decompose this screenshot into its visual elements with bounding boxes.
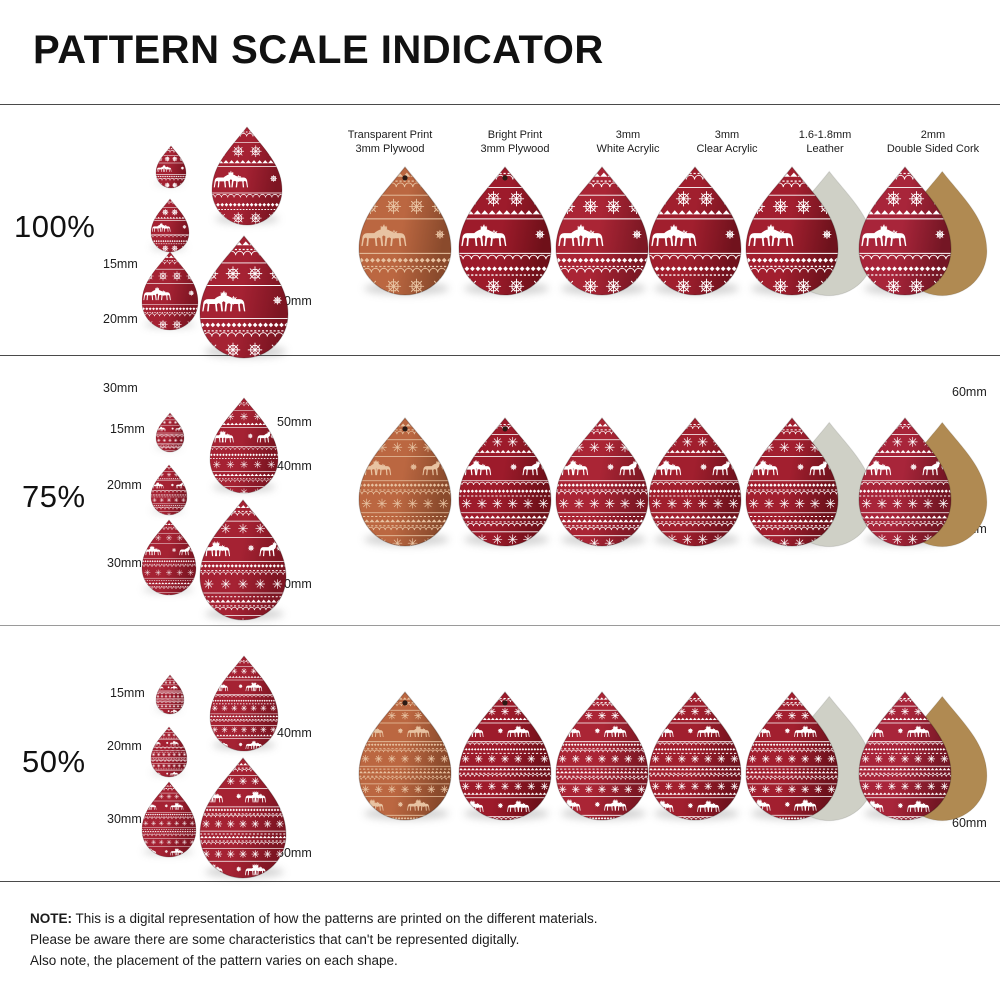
size-label-20mm: 20mm bbox=[103, 312, 138, 326]
footer-note-line-3: Also note, the placement of the pattern … bbox=[30, 950, 598, 971]
material-drop-bright-print-plywood bbox=[455, 688, 555, 824]
material-drop-transparent-print-plywood bbox=[355, 688, 455, 824]
material-drop-bright-print-plywood bbox=[455, 414, 555, 550]
material-drop-white-acrylic bbox=[552, 414, 652, 550]
footer-note-line-2: Please be aware there are some character… bbox=[30, 929, 598, 950]
page-title: PATTERN SCALE INDICATOR bbox=[33, 28, 604, 73]
sample-drop-40mm bbox=[208, 123, 286, 229]
sample-drop-30mm bbox=[138, 516, 200, 599]
sample-drop-30mm bbox=[138, 248, 202, 334]
scale-section-50: 50% 15mm 20mm 30mm 40mm 50mm 60mm bbox=[0, 626, 1000, 881]
size-label-40mm: 40mm bbox=[277, 459, 312, 473]
material-drop-clear-acrylic bbox=[645, 163, 745, 299]
size-label-40mm: 40mm bbox=[277, 726, 312, 740]
material-drop-double-sided-cork bbox=[855, 688, 1000, 824]
material-drop-white-acrylic bbox=[552, 688, 652, 824]
sample-drop-40mm bbox=[206, 652, 282, 755]
sample-drop-40mm bbox=[206, 394, 282, 497]
size-label-20mm: 20mm bbox=[107, 739, 142, 753]
sample-drop-50mm bbox=[196, 496, 290, 624]
scale-label-75: 75% bbox=[22, 479, 86, 515]
sample-drop-15mm bbox=[152, 409, 188, 456]
sample-drop-50mm bbox=[196, 232, 292, 362]
scale-section-100: 100% 15mm 20mm 30mm 40mm 50mm 60mm bbox=[0, 105, 1000, 355]
scale-label-100: 100% bbox=[14, 209, 95, 245]
sample-drop-50mm bbox=[196, 754, 290, 882]
material-drop-double-sided-cork bbox=[855, 163, 1000, 299]
material-drop-white-acrylic bbox=[552, 163, 652, 299]
size-label-30mm: 30mm bbox=[107, 556, 142, 570]
scale-label-50: 50% bbox=[22, 744, 86, 780]
scale-section-75: 75% 15mm 20mm 30mm 40mm 50mm 60mm bbox=[0, 356, 1000, 625]
footer-note-text-1: This is a digital representation of how … bbox=[72, 911, 598, 926]
material-drop-clear-acrylic bbox=[645, 688, 745, 824]
size-label-30mm: 30mm bbox=[107, 812, 142, 826]
sample-drop-15mm bbox=[152, 671, 188, 718]
material-drop-double-sided-cork bbox=[855, 414, 1000, 550]
size-label-15mm: 15mm bbox=[110, 686, 145, 700]
material-drop-transparent-print-plywood bbox=[355, 163, 455, 299]
sample-drop-20mm bbox=[147, 461, 191, 519]
divider-bottom bbox=[0, 881, 1000, 882]
size-label-15mm: 15mm bbox=[103, 257, 138, 271]
material-drop-transparent-print-plywood bbox=[355, 414, 455, 550]
footer-note: NOTE: This is a digital representation o… bbox=[30, 908, 598, 971]
size-label-15mm: 15mm bbox=[110, 422, 145, 436]
material-drop-clear-acrylic bbox=[645, 414, 745, 550]
sample-drop-20mm bbox=[147, 723, 191, 781]
footer-note-label: NOTE: bbox=[30, 911, 72, 926]
sample-drop-20mm bbox=[147, 195, 193, 256]
footer-note-line-1: NOTE: This is a digital representation o… bbox=[30, 908, 598, 929]
material-drop-bright-print-plywood bbox=[455, 163, 555, 299]
sample-drop-30mm bbox=[138, 778, 200, 861]
sample-drop-15mm bbox=[152, 142, 190, 192]
size-label-20mm: 20mm bbox=[107, 478, 142, 492]
